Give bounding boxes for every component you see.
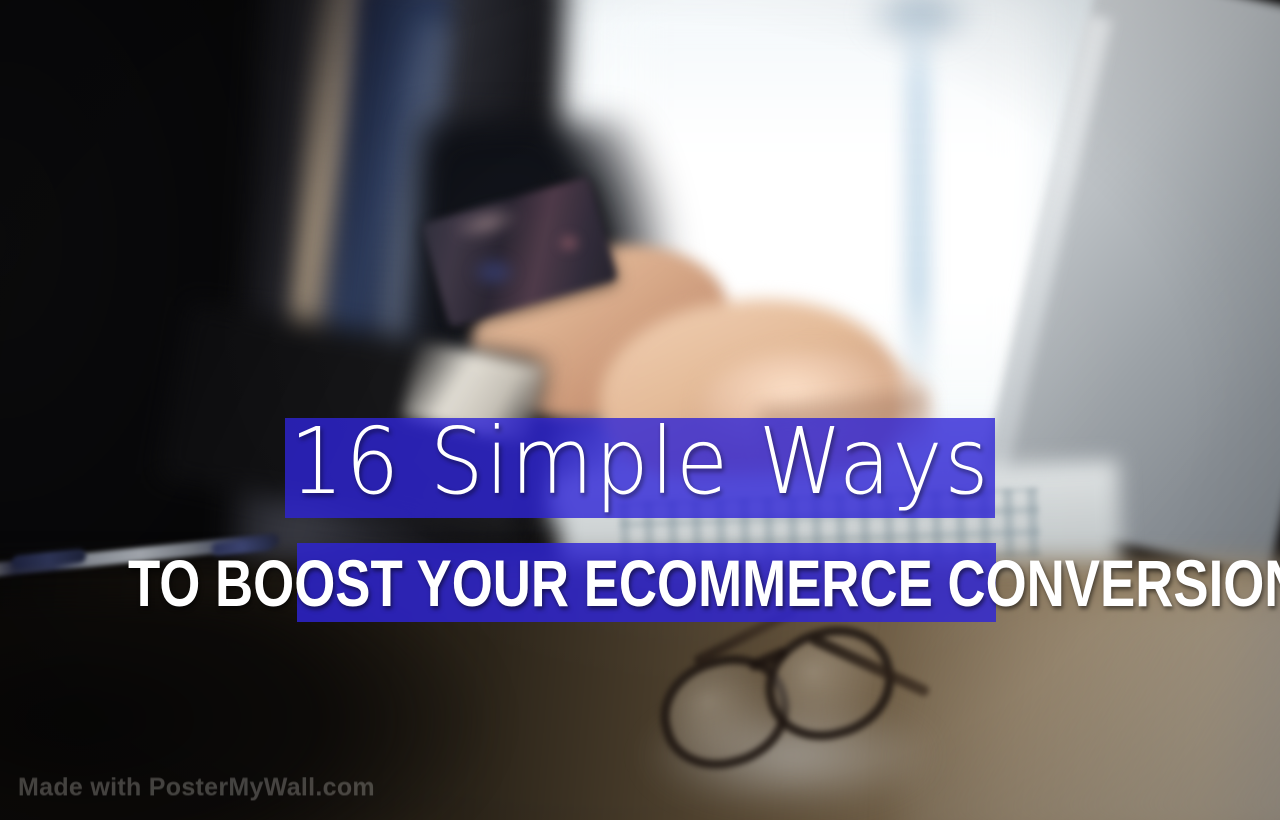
subheadline-text: TO BOOST YOUR ECOMMERCE CONVERSION RATE [128,545,1152,621]
headline-text: 16 Simple Ways [51,404,1229,520]
credit-card-chip [470,255,518,289]
postermywall-watermark: Made with PosterMyWall.com [18,773,375,802]
credit-card-logo [556,232,582,254]
window-mullion [905,0,931,390]
poster-canvas: 16 Simple Ways TO BOOST YOUR ECOMMERCE C… [0,0,1280,820]
desk-highlight [900,600,1280,820]
